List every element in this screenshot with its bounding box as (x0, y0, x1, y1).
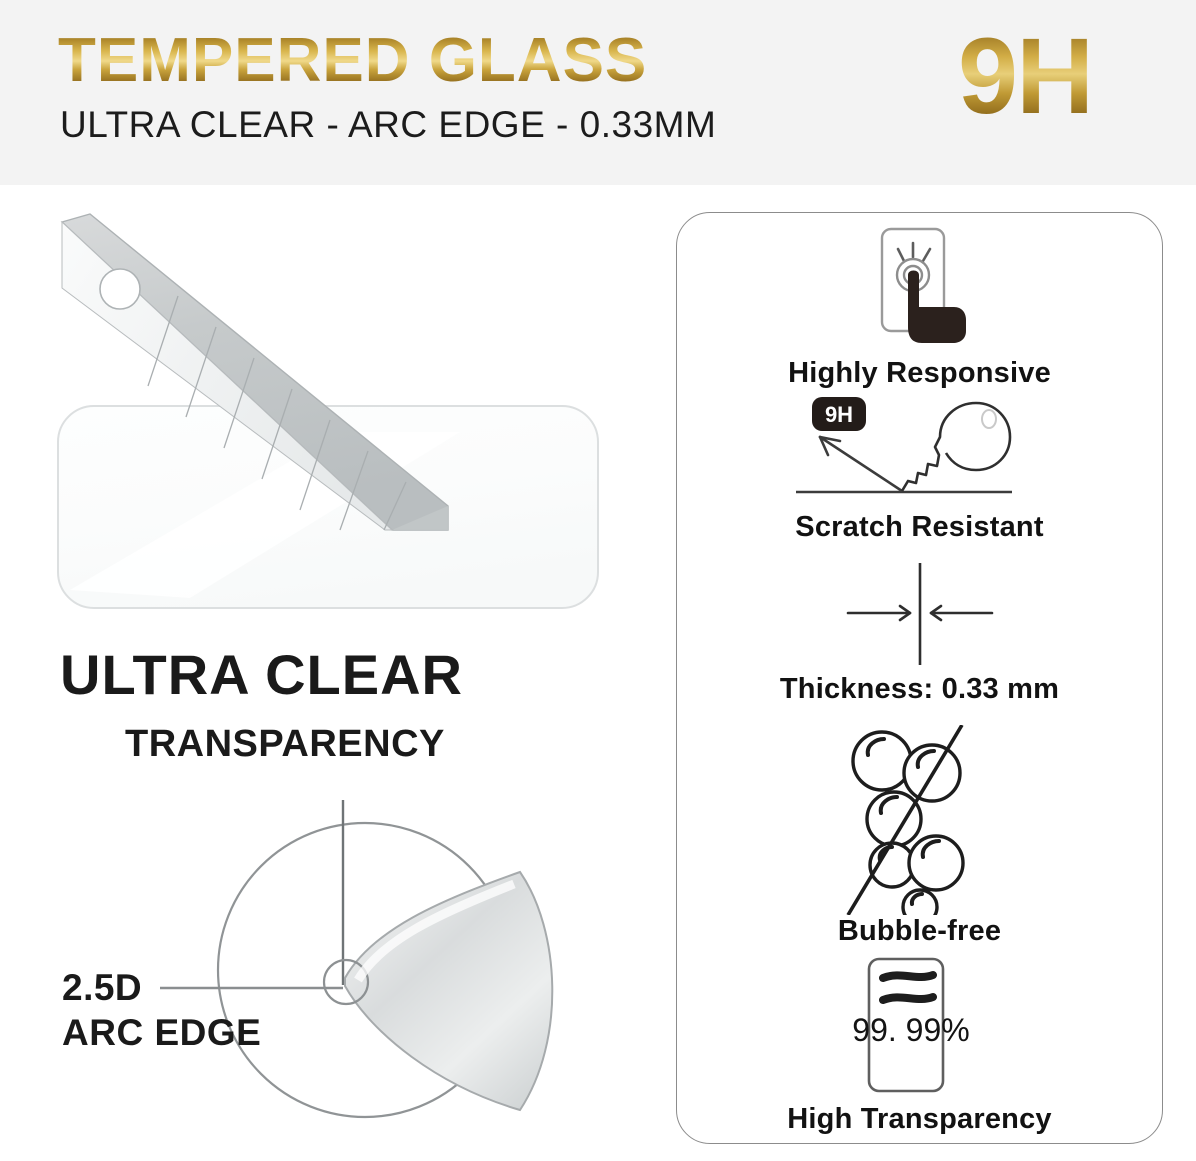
feature-label-high-transparency: High Transparency (677, 1103, 1162, 1136)
arc-edge-cross-section-icon (20, 780, 640, 1140)
left-panel: ULTRA CLEAR TRANSPARENCY 2.5D ARC EDGE (0, 185, 676, 1161)
feature-highly-responsive: Highly Responsive (677, 221, 1162, 390)
key-scratch-icon: 9H (790, 391, 1050, 511)
feature-label-bubble-free: Bubble-free (677, 915, 1162, 948)
feature-scratch-resistant: 9H Scratch Resistant (677, 391, 1162, 544)
feature-label-scratch-resistant: Scratch Resistant (677, 511, 1162, 544)
transparency-subheadline: TRANSPARENCY (125, 725, 445, 763)
arc-edge-label: 2.5D ARC EDGE (62, 965, 261, 1055)
features-panel: Highly Responsive 9H Scratch Resistant (676, 212, 1163, 1144)
feature-label-highly-responsive: Highly Responsive (677, 357, 1162, 390)
header-band: TEMPERED GLASS ULTRA CLEAR - ARC EDGE - … (0, 0, 1196, 185)
page-subtitle: ULTRA CLEAR - ARC EDGE - 0.33MM (60, 104, 716, 146)
utility-blade-over-glass-icon (40, 200, 640, 630)
arc-edge-label-line1: 2.5D (62, 965, 261, 1010)
thickness-arrows-icon (790, 561, 1050, 673)
transparency-percent-value: 99. 99% (852, 1012, 969, 1048)
feature-high-transparency: 99. 99% High Transparency (677, 953, 1162, 1136)
arc-edge-label-line2: ARC EDGE (62, 1010, 261, 1055)
screen-glare-icon: 99. 99% (805, 953, 1035, 1103)
ultra-clear-headline: ULTRA CLEAR (60, 647, 463, 703)
hardness-badge-9h: 9H (958, 22, 1092, 130)
blade-hole (100, 269, 140, 309)
badge-9h-text: 9H (824, 402, 852, 427)
page-title: TEMPERED GLASS (58, 30, 647, 92)
feature-bubble-free: Bubble-free (677, 725, 1162, 948)
feature-label-thickness: Thickness: 0.33 mm (677, 673, 1162, 706)
bubbles-crossed-icon (820, 725, 1020, 915)
touch-phone-icon (850, 221, 990, 351)
feature-thickness: Thickness: 0.33 mm (677, 561, 1162, 706)
